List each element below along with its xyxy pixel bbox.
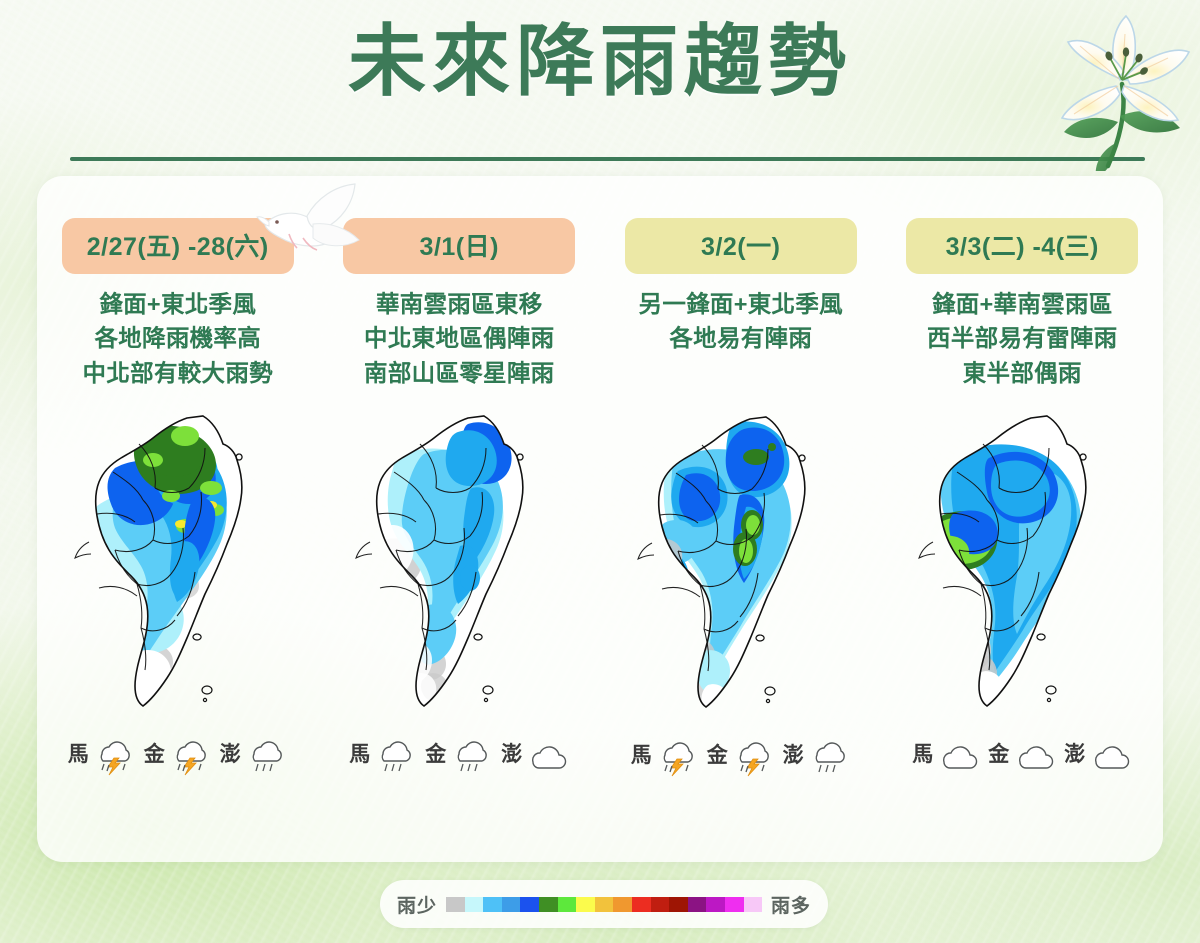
legend-swatch	[483, 897, 502, 912]
date-badge-2: 3/1(日)	[343, 218, 575, 274]
desc-line: 東半部偶雨	[927, 356, 1117, 390]
island-label: 澎	[220, 744, 241, 765]
island-label: 澎	[501, 744, 522, 765]
legend-swatch	[669, 897, 688, 912]
legend-low-label: 雨少	[397, 891, 437, 918]
island-jin-4: 金	[988, 734, 1056, 776]
date-badge-4: 3/3(二) -4(三)	[906, 218, 1138, 274]
thunderstorm-icon	[90, 734, 136, 776]
forecast-description-2: 華南雲雨區東移 中北東地區偶陣雨 南部山區零星陣雨	[364, 287, 554, 390]
legend-swatch	[558, 897, 577, 912]
legend-swatch	[465, 897, 484, 912]
island-label: 澎	[783, 745, 804, 766]
legend-swatch	[706, 897, 725, 912]
desc-line: 鋒面+華南雲雨區	[927, 287, 1117, 321]
dove-icon	[255, 178, 363, 260]
desc-line: 各地易有陣雨	[639, 321, 843, 355]
island-ma-2: 馬	[349, 734, 417, 776]
island-ma-4: 馬	[912, 734, 980, 776]
island-forecast-row-1: 馬 金	[68, 734, 288, 776]
legend-swatch	[632, 897, 651, 912]
legend-color-scale	[446, 897, 762, 912]
island-forecast-row-3: 馬 金	[631, 735, 851, 777]
legend-swatch	[613, 897, 632, 912]
date-badge-3: 3/2(一)	[625, 218, 857, 274]
legend-swatch	[725, 897, 744, 912]
island-peng-3: 澎	[783, 735, 851, 777]
island-jin-2: 金	[425, 734, 493, 776]
forecast-description-3: 另一鋒面+東北季風 各地易有陣雨	[639, 287, 843, 356]
taiwan-rainfall-map-4	[897, 402, 1147, 722]
island-ma-1: 馬	[68, 734, 136, 776]
cloudy-icon	[1086, 734, 1132, 776]
infographic-root: 未來降雨趨勢	[0, 0, 1200, 943]
desc-line: 中北部有較大雨勢	[83, 356, 273, 390]
island-jin-1: 金	[144, 734, 212, 776]
thunderstorm-icon	[166, 734, 212, 776]
forecast-column-2: 3/1(日) 華南雲雨區東移 中北東地區偶陣雨 南部山區零星陣雨	[319, 176, 601, 862]
cloudy-icon	[1010, 734, 1056, 776]
forecast-description-4: 鋒面+華南雲雨區 西半部易有雷陣雨 東半部偶雨	[927, 287, 1117, 390]
legend-swatch	[576, 897, 595, 912]
island-label: 馬	[631, 745, 652, 766]
legend-swatch	[446, 897, 465, 912]
legend-swatch	[539, 897, 558, 912]
desc-line: 中北東地區偶陣雨	[364, 321, 554, 355]
lily-flower-icon	[1034, 6, 1192, 171]
legend-swatch	[595, 897, 614, 912]
desc-line: 另一鋒面+東北季風	[639, 287, 843, 321]
forecast-description-1: 鋒面+東北季風 各地降雨機率高 中北部有較大雨勢	[83, 287, 273, 390]
island-peng-2: 澎	[501, 734, 569, 776]
island-peng-4: 澎	[1064, 734, 1132, 776]
island-label: 金	[425, 744, 446, 765]
legend-swatch	[520, 897, 539, 912]
forecast-column-3: 3/2(一) 另一鋒面+東北季風 各地易有陣雨	[600, 176, 882, 862]
rain-icon	[371, 734, 417, 776]
legend-high-label: 雨多	[771, 891, 811, 918]
title-divider	[70, 157, 1145, 161]
desc-line: 南部山區零星陣雨	[364, 356, 554, 390]
legend-swatch	[651, 897, 670, 912]
cloudy-icon	[523, 734, 569, 776]
island-label: 澎	[1064, 744, 1085, 765]
island-label: 金	[144, 744, 165, 765]
page-title: 未來降雨趨勢	[0, 18, 1200, 105]
island-label: 金	[988, 744, 1009, 765]
desc-line: 西半部易有雷陣雨	[927, 321, 1117, 355]
island-label: 馬	[912, 744, 933, 765]
forecast-column-1: 2/27(五) -28(六) 鋒面+東北季風 各地降雨機率高 中北部有較大雨勢	[37, 176, 319, 862]
island-jin-3: 金	[707, 735, 775, 777]
desc-line: 華南雲雨區東移	[364, 287, 554, 321]
legend-swatch	[688, 897, 707, 912]
desc-line: 各地降雨機率高	[83, 321, 273, 355]
island-ma-3: 馬	[631, 735, 699, 777]
rain-icon	[447, 734, 493, 776]
island-label: 馬	[349, 744, 370, 765]
taiwan-rainfall-map-3	[616, 403, 866, 723]
forecast-column-4: 3/3(二) -4(三) 鋒面+華南雲雨區 西半部易有雷陣雨 東半部偶雨	[882, 176, 1164, 862]
taiwan-rainfall-map-2	[334, 402, 584, 722]
forecast-columns: 2/27(五) -28(六) 鋒面+東北季風 各地降雨機率高 中北部有較大雨勢	[37, 176, 1163, 862]
rain-icon	[242, 734, 288, 776]
rainfall-legend: 雨少 雨多	[380, 880, 828, 928]
cloudy-icon	[934, 734, 980, 776]
thunderstorm-icon	[729, 735, 775, 777]
island-label: 馬	[68, 744, 89, 765]
island-peng-1: 澎	[220, 734, 288, 776]
island-label: 金	[707, 745, 728, 766]
legend-swatch	[744, 897, 763, 912]
island-forecast-row-2: 馬 金	[349, 734, 569, 776]
island-forecast-row-4: 馬 金 澎	[912, 734, 1132, 776]
desc-line: 鋒面+東北季風	[83, 287, 273, 321]
legend-swatch	[502, 897, 521, 912]
thunderstorm-icon	[653, 735, 699, 777]
taiwan-rainfall-map-1	[53, 402, 303, 722]
rain-icon	[805, 735, 851, 777]
